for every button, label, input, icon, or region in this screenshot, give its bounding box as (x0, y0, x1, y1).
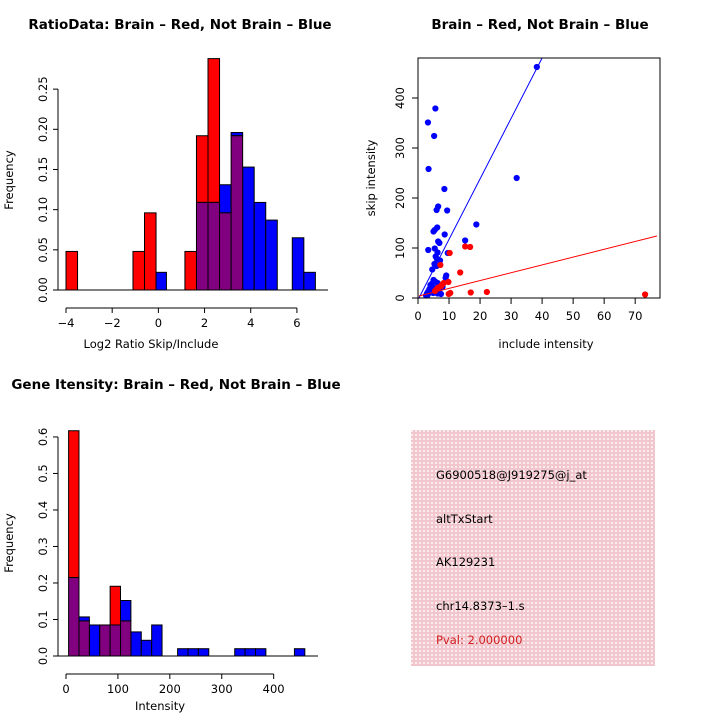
axis-tick-label: 0 (155, 316, 162, 330)
gene-histogram-xlabel: Intensity (135, 699, 185, 713)
scatter-fit-line-not-brain-fit (419, 58, 542, 298)
gene-histogram-ylabel: Frequency (2, 513, 16, 573)
scatter-point-not-brain (434, 224, 440, 230)
scatter-svg: Brain – Red, Not Brain – Blue include in… (360, 0, 720, 360)
ratio-histogram-xlabel: Log2 Ratio Skip/Include (84, 337, 219, 351)
axis-tick-label: 10 (442, 309, 457, 323)
ratio-histogram-ylabel: Frequency (2, 150, 16, 210)
axis-tick-label: 50 (566, 309, 581, 323)
gene-bar-not-brain (121, 601, 131, 621)
scatter-point-brain (484, 289, 490, 295)
scatter-points (423, 64, 648, 299)
gene-bar-not-brain (152, 625, 162, 656)
axis-tick-label: 4 (247, 316, 254, 330)
axis-tick-label: −2 (104, 316, 121, 330)
axis-tick-label: 0.4 (36, 501, 50, 519)
ratio-bar-brain (133, 251, 145, 290)
scatter-point-brain (457, 269, 463, 275)
scatter-point-not-brain (436, 240, 442, 246)
axis-tick-label: −4 (58, 316, 75, 330)
axis-tick-label: 0.05 (36, 237, 50, 263)
ratio-histogram-title: RatioData: Brain – Red, Not Brain – Blue (28, 17, 331, 33)
axis-tick-label: 0 (414, 309, 421, 323)
scatter-plot-box (418, 58, 660, 298)
info-pval: Pval: 2.000000 (436, 633, 522, 647)
axis-tick-label: 0.15 (36, 157, 50, 183)
scatter-point-not-brain (514, 175, 520, 181)
gene-bar-overlap (110, 625, 120, 656)
scatter-point-not-brain (462, 237, 468, 243)
axis-tick-label: 100 (393, 237, 407, 259)
gene-bar-brain (69, 431, 79, 578)
ratio-bar-not-brain (304, 272, 316, 290)
info-coordinate: chr14.8373–1.s (436, 599, 525, 613)
ratio-bar-overlap (208, 202, 220, 290)
scatter-point-not-brain (432, 105, 438, 111)
gene-bar-overlap (121, 621, 131, 656)
gene-histogram-title: Gene Itensity: Brain – Red, Not Brain – … (11, 377, 340, 393)
axis-tick-label: 0 (62, 682, 69, 696)
axis-tick-label: 40 (535, 309, 550, 323)
ratio-bar-overlap (220, 213, 232, 290)
ratio-bar-overlap (231, 136, 243, 290)
axis-tick-label: 30 (504, 309, 519, 323)
gene-histogram-panel: Gene Itensity: Brain – Red, Not Brain – … (0, 360, 360, 720)
ratio-bar-overlap (196, 202, 208, 290)
axis-tick-label: 0.5 (36, 464, 50, 482)
gene-bar-not-brain (141, 640, 151, 656)
axis-tick-label: 0.25 (36, 76, 50, 102)
scatter-point-not-brain (425, 166, 431, 172)
ratio-bar-not-brain (220, 185, 232, 213)
axis-tick-label: 0.10 (36, 197, 50, 223)
scatter-point-not-brain (473, 221, 479, 227)
scatter-point-brain (447, 290, 453, 296)
axis-tick-label: 70 (628, 309, 643, 323)
ratio-bar-not-brain (156, 272, 166, 290)
scatter-fit-lines (419, 58, 657, 298)
gene-bar-not-brain (294, 649, 304, 656)
scatter-point-not-brain (441, 186, 447, 192)
gene-bar-not-brain (89, 625, 99, 656)
gene-bar-not-brain (245, 649, 255, 656)
axis-tick-label: 6 (293, 316, 300, 330)
axis-tick-label: 0.20 (36, 117, 50, 143)
scatter-point-not-brain (442, 231, 448, 237)
axis-tick-label: 0.0 (36, 647, 50, 665)
scatter-point-not-brain (434, 207, 440, 213)
scatter-point-brain (642, 291, 648, 297)
axis-tick-label: 200 (159, 682, 181, 696)
figure-canvas: RatioData: Brain – Red, Not Brain – Blue… (0, 0, 720, 720)
ratio-bar-brain (208, 59, 220, 203)
scatter-panel: Brain – Red, Not Brain – Blue include in… (360, 0, 720, 360)
axis-tick-label: 20 (473, 309, 488, 323)
gene-histogram-svg: Gene Itensity: Brain – Red, Not Brain – … (0, 360, 360, 720)
scatter-title: Brain – Red, Not Brain – Blue (431, 17, 648, 33)
gene-bar-brain (110, 586, 120, 625)
ratio-bar-not-brain (243, 167, 255, 290)
ratio-bar-not-brain (266, 220, 278, 290)
info-probe-id: G6900518@J919275@j_at (436, 468, 587, 482)
gene-bar-not-brain (178, 649, 188, 656)
axis-tick-label: 0.2 (36, 574, 50, 592)
scatter-fit-line-brain-fit (419, 236, 657, 296)
ratio-bar-brain (185, 251, 197, 290)
scatter-point-not-brain (425, 247, 431, 253)
ratio-histogram-panel: RatioData: Brain – Red, Not Brain – Blue… (0, 0, 360, 360)
gene-info-panel: G6900518@J919275@j_at altTxStart AK12923… (411, 430, 655, 666)
gene-bar-not-brain (235, 649, 245, 656)
ratio-bar-brain (66, 251, 78, 290)
ratio-bar-not-brain (254, 202, 266, 290)
gene-bar-not-brain (198, 649, 208, 656)
scatter-point-not-brain (431, 133, 437, 139)
axis-tick-label: 0.3 (36, 537, 50, 555)
axis-tick-label: 400 (393, 87, 407, 109)
axis-tick-label: 60 (597, 309, 612, 323)
axis-tick-label: 200 (393, 187, 407, 209)
scatter-point-brain (447, 250, 453, 256)
ratio-bar-brain (145, 213, 157, 290)
info-event-type: altTxStart (436, 512, 493, 526)
gene-bar-not-brain (131, 632, 141, 656)
ratio-bar-brain (196, 136, 208, 203)
axis-tick-label: 300 (211, 682, 233, 696)
scatter-ylabel: skip intensity (364, 139, 378, 216)
info-accession: AK129231 (436, 555, 495, 569)
axis-tick-label: 2 (201, 316, 208, 330)
axis-tick-label: 0.1 (36, 610, 50, 628)
scatter-xlabel: include intensity (498, 337, 593, 351)
gene-bar-overlap (100, 625, 110, 656)
gene-bar-overlap (79, 621, 89, 656)
scatter-point-brain (467, 244, 473, 250)
scatter-point-brain (437, 262, 443, 268)
axis-tick-label: 100 (107, 682, 129, 696)
gene-bar-overlap (69, 578, 79, 656)
gene-bar-not-brain (255, 649, 265, 656)
gene-histogram-bars (69, 431, 305, 656)
ratio-histogram-bars (66, 59, 315, 290)
gene-bar-not-brain (188, 649, 198, 656)
ratio-bar-not-brain (292, 238, 304, 290)
scatter-point-brain (468, 289, 474, 295)
axis-tick-label: 0 (393, 294, 407, 301)
axis-tick-label: 400 (263, 682, 285, 696)
scatter-point-not-brain (425, 119, 431, 125)
axis-tick-label: 0.00 (36, 277, 50, 303)
axis-tick-label: 0.6 (36, 428, 50, 446)
gene-bar-not-brain (79, 617, 89, 621)
axis-tick-label: 300 (393, 137, 407, 159)
ratio-histogram-axes: 0.000.050.100.150.200.25−4−20246 (36, 76, 328, 330)
ratio-histogram-svg: RatioData: Brain – Red, Not Brain – Blue… (0, 0, 360, 360)
scatter-point-not-brain (444, 207, 450, 213)
